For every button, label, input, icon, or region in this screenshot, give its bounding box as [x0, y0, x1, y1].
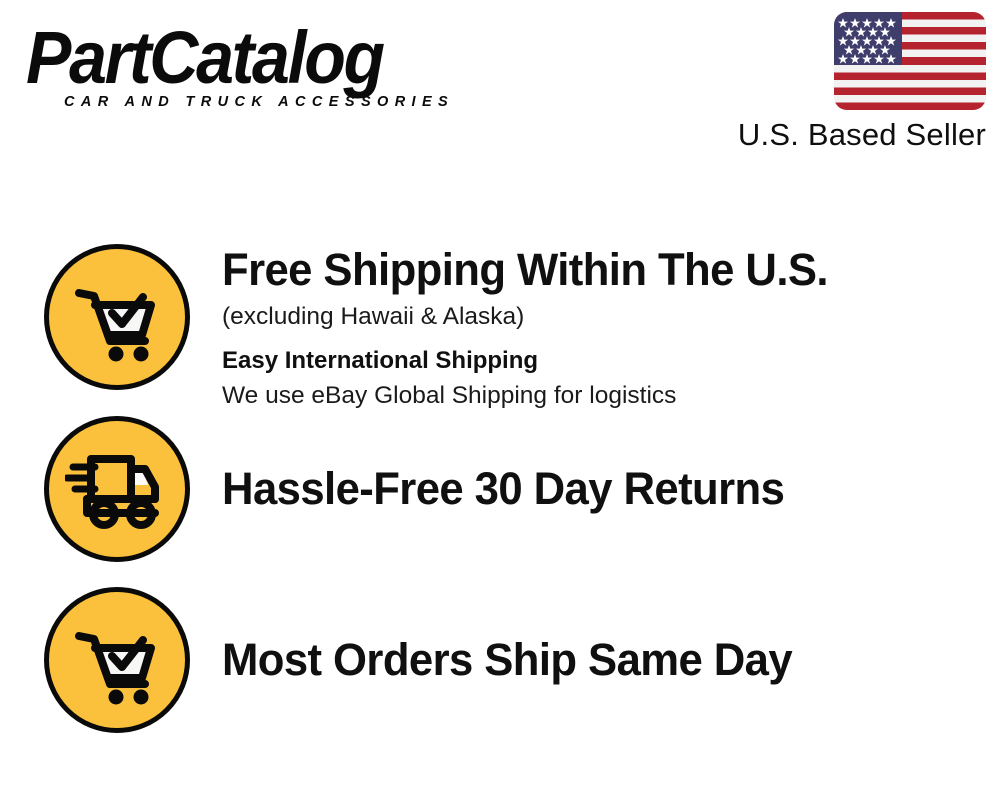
feature-text-block: Most Orders Ship Same Day [190, 636, 1000, 685]
feature-row: Free Shipping Within The U.S. (excluding… [0, 244, 1000, 412]
feature-note: (excluding Hawaii & Alaska) [222, 302, 1000, 333]
feature-subtitle: We use eBay Global Shipping for logistic… [222, 381, 1000, 412]
feature-text-block: Hassle-Free 30 Day Returns [190, 465, 1000, 514]
flag-canton [834, 12, 902, 65]
brand-logo[interactable]: PartCatalog CAR AND TRUCK ACCESSORIES [26, 24, 496, 110]
brand-wordmark: PartCatalog [26, 24, 458, 92]
page-header: PartCatalog CAR AND TRUCK ACCESSORIES [0, 0, 1000, 175]
cart-check-icon [44, 587, 190, 733]
feature-title: Hassle-Free 30 Day Returns [222, 465, 977, 514]
feature-title: Free Shipping Within The U.S. [222, 246, 977, 295]
feature-text-block: Free Shipping Within The U.S. (excluding… [190, 244, 1000, 412]
cart-check-icon [44, 244, 190, 390]
feature-subtitle-bold: Easy International Shipping [222, 346, 1000, 376]
feature-title: Most Orders Ship Same Day [222, 636, 977, 685]
seller-label: U.S. Based Seller [656, 117, 986, 153]
feature-row: Hassle-Free 30 Day Returns [0, 416, 1000, 562]
us-based-seller-badge: U.S. Based Seller [656, 12, 986, 153]
feature-row: Most Orders Ship Same Day [0, 587, 1000, 733]
delivery-truck-icon [44, 416, 190, 562]
us-flag-icon [834, 12, 986, 110]
